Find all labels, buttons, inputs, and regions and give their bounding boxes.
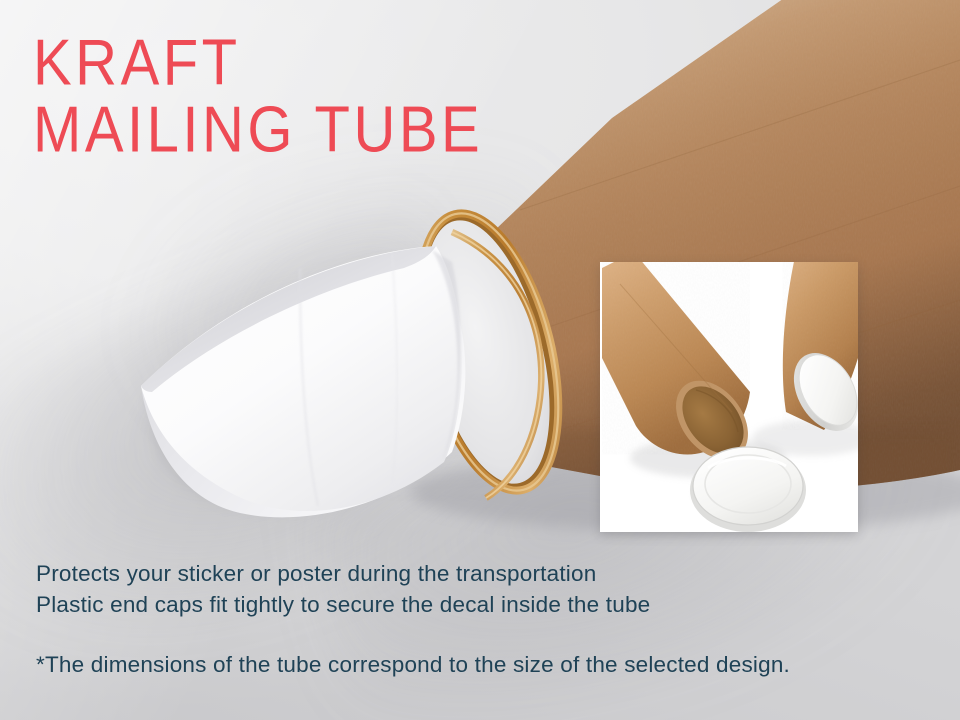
headline-line-2: MAILING TUBE <box>33 99 483 163</box>
footnote: *The dimensions of the tube correspond t… <box>36 652 790 678</box>
feature-copy: Protects your sticker or poster during t… <box>36 558 650 620</box>
headline-line-1: KRAFT <box>33 32 483 96</box>
headline: KRAFT MAILING TUBE <box>33 32 483 156</box>
inset-loose-cap <box>690 447 806 532</box>
feature-line-1: Protects your sticker or poster during t… <box>36 558 650 589</box>
feature-line-2: Plastic end caps fit tightly to secure t… <box>36 589 650 620</box>
product-banner: KRAFT MAILING TUBE <box>0 0 960 720</box>
inset-scene <box>600 262 858 532</box>
inset-photo <box>600 262 858 532</box>
